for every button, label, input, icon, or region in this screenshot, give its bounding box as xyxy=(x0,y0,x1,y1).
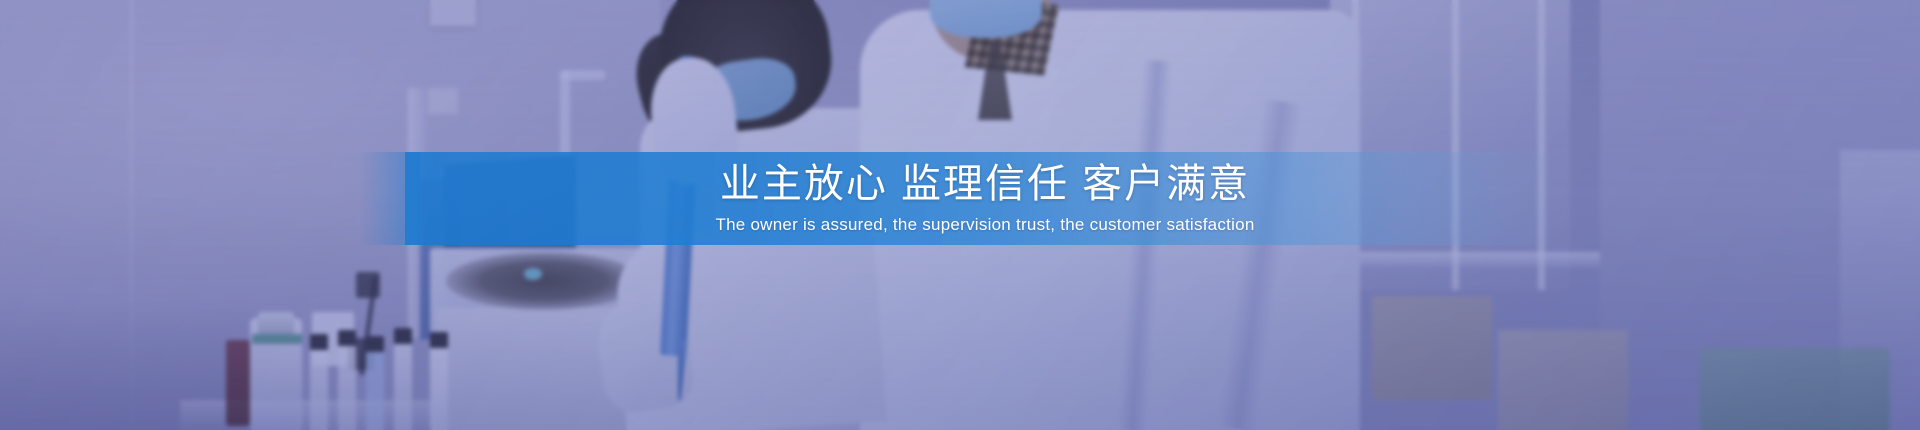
banner-subheadline: The owner is assured, the supervision tr… xyxy=(715,215,1254,235)
hero-banner: 业主放心 监理信任 客户满意 The owner is assured, the… xyxy=(0,0,1920,430)
banner-text-block: 业主放心 监理信任 客户满意 The owner is assured, the… xyxy=(405,152,1565,245)
banner-headline: 业主放心 监理信任 客户满意 xyxy=(720,163,1250,206)
